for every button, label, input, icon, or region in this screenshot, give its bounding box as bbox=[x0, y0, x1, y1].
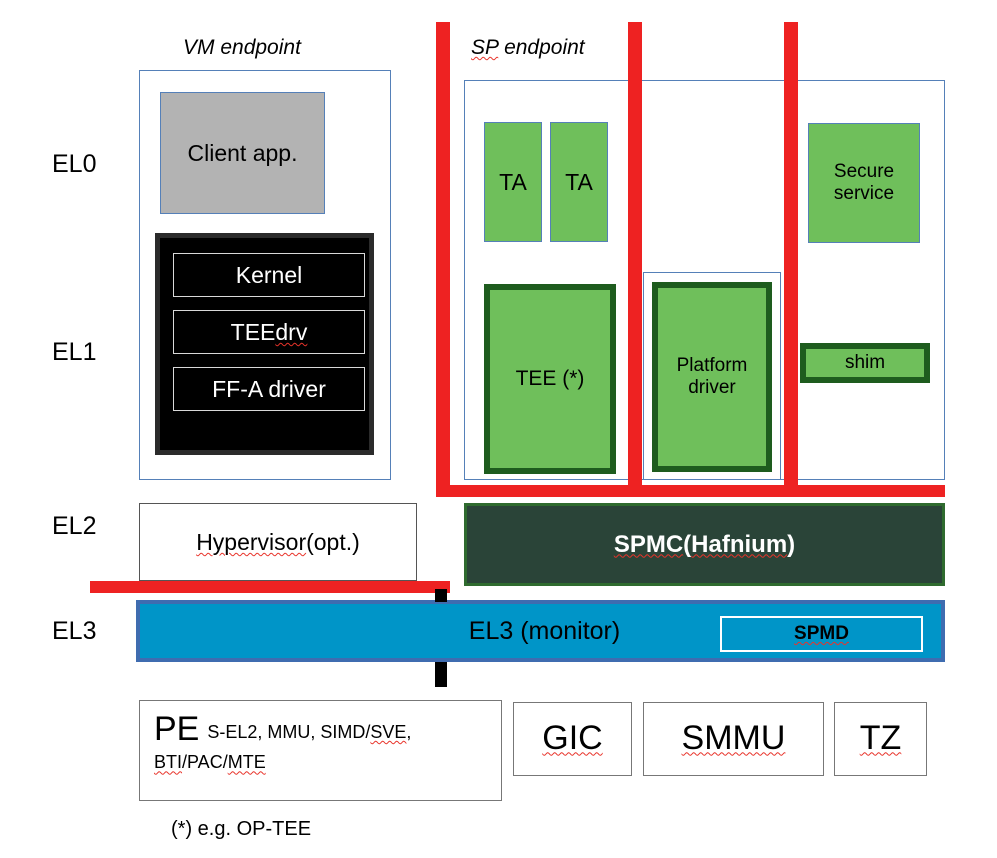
kernel-box[interactable]: Kernel bbox=[173, 253, 365, 297]
pe-details-line-1: S-EL2, MMU, SIMD/SVE, bbox=[207, 720, 411, 748]
connector-stub-top bbox=[435, 589, 447, 602]
el-label-el2: EL2 bbox=[52, 512, 96, 541]
pe-title: PE bbox=[154, 711, 199, 748]
spmd-box[interactable]: SPMD bbox=[720, 616, 923, 652]
boundary-line-vertical-tee-platform bbox=[628, 22, 642, 492]
diagram-canvas: VM endpoint SP endpoint EL0 EL1 EL2 EL3 … bbox=[0, 0, 997, 858]
pe-box[interactable]: PE S-EL2, MMU, SIMD/SVE, BTI/PAC/MTE bbox=[139, 700, 502, 801]
spmc-box[interactable]: SPMC (Hafnium) bbox=[464, 503, 945, 586]
secure-service-line-1: Secure bbox=[834, 161, 894, 183]
smmu-box[interactable]: SMMU bbox=[643, 702, 824, 776]
shim-box[interactable]: shim bbox=[800, 343, 930, 383]
sp-endpoint-caption: SP endpoint bbox=[471, 36, 585, 60]
client-app-box[interactable]: Client app. bbox=[160, 92, 325, 214]
el-label-el3: EL3 bbox=[52, 617, 96, 646]
tee-driver-box[interactable]: TEE drv bbox=[173, 310, 365, 354]
platform-driver-box[interactable]: Platform driver bbox=[652, 282, 772, 472]
pe-details-line-2: BTI/PAC/MTE bbox=[154, 750, 494, 774]
tee-box[interactable]: TEE (*) bbox=[484, 284, 616, 474]
el-label-el0: EL0 bbox=[52, 150, 96, 179]
el3-monitor-bar[interactable]: EL3 (monitor) SPMD bbox=[136, 600, 945, 662]
boundary-line-horizontal-el2-el3 bbox=[90, 581, 450, 593]
tz-box[interactable]: TZ bbox=[834, 702, 927, 776]
hypervisor-box[interactable]: Hypervisor (opt.) bbox=[139, 503, 417, 581]
platform-driver-line-1: Platform bbox=[677, 355, 748, 377]
el-label-el1: EL1 bbox=[52, 338, 96, 367]
trusted-app-box-1[interactable]: TA bbox=[484, 122, 542, 242]
platform-driver-line-2: driver bbox=[688, 377, 736, 399]
trusted-app-box-2[interactable]: TA bbox=[550, 122, 608, 242]
vm-endpoint-caption: VM endpoint bbox=[183, 36, 301, 60]
secure-service-line-2: service bbox=[834, 183, 894, 205]
ffa-driver-box[interactable]: FF-A driver bbox=[173, 367, 365, 411]
boundary-line-horizontal-el1-el2 bbox=[436, 485, 945, 497]
secure-service-box[interactable]: Secure service bbox=[808, 123, 920, 243]
boundary-line-vertical-vm-sp bbox=[436, 22, 450, 492]
guest-os-stack: Kernel TEE drv FF-A driver bbox=[155, 233, 374, 455]
footnote-text: (*) e.g. OP-TEE bbox=[171, 818, 311, 841]
connector-stub-bottom bbox=[435, 662, 447, 687]
gic-box[interactable]: GIC bbox=[513, 702, 632, 776]
boundary-line-vertical-platform-service bbox=[784, 22, 798, 492]
